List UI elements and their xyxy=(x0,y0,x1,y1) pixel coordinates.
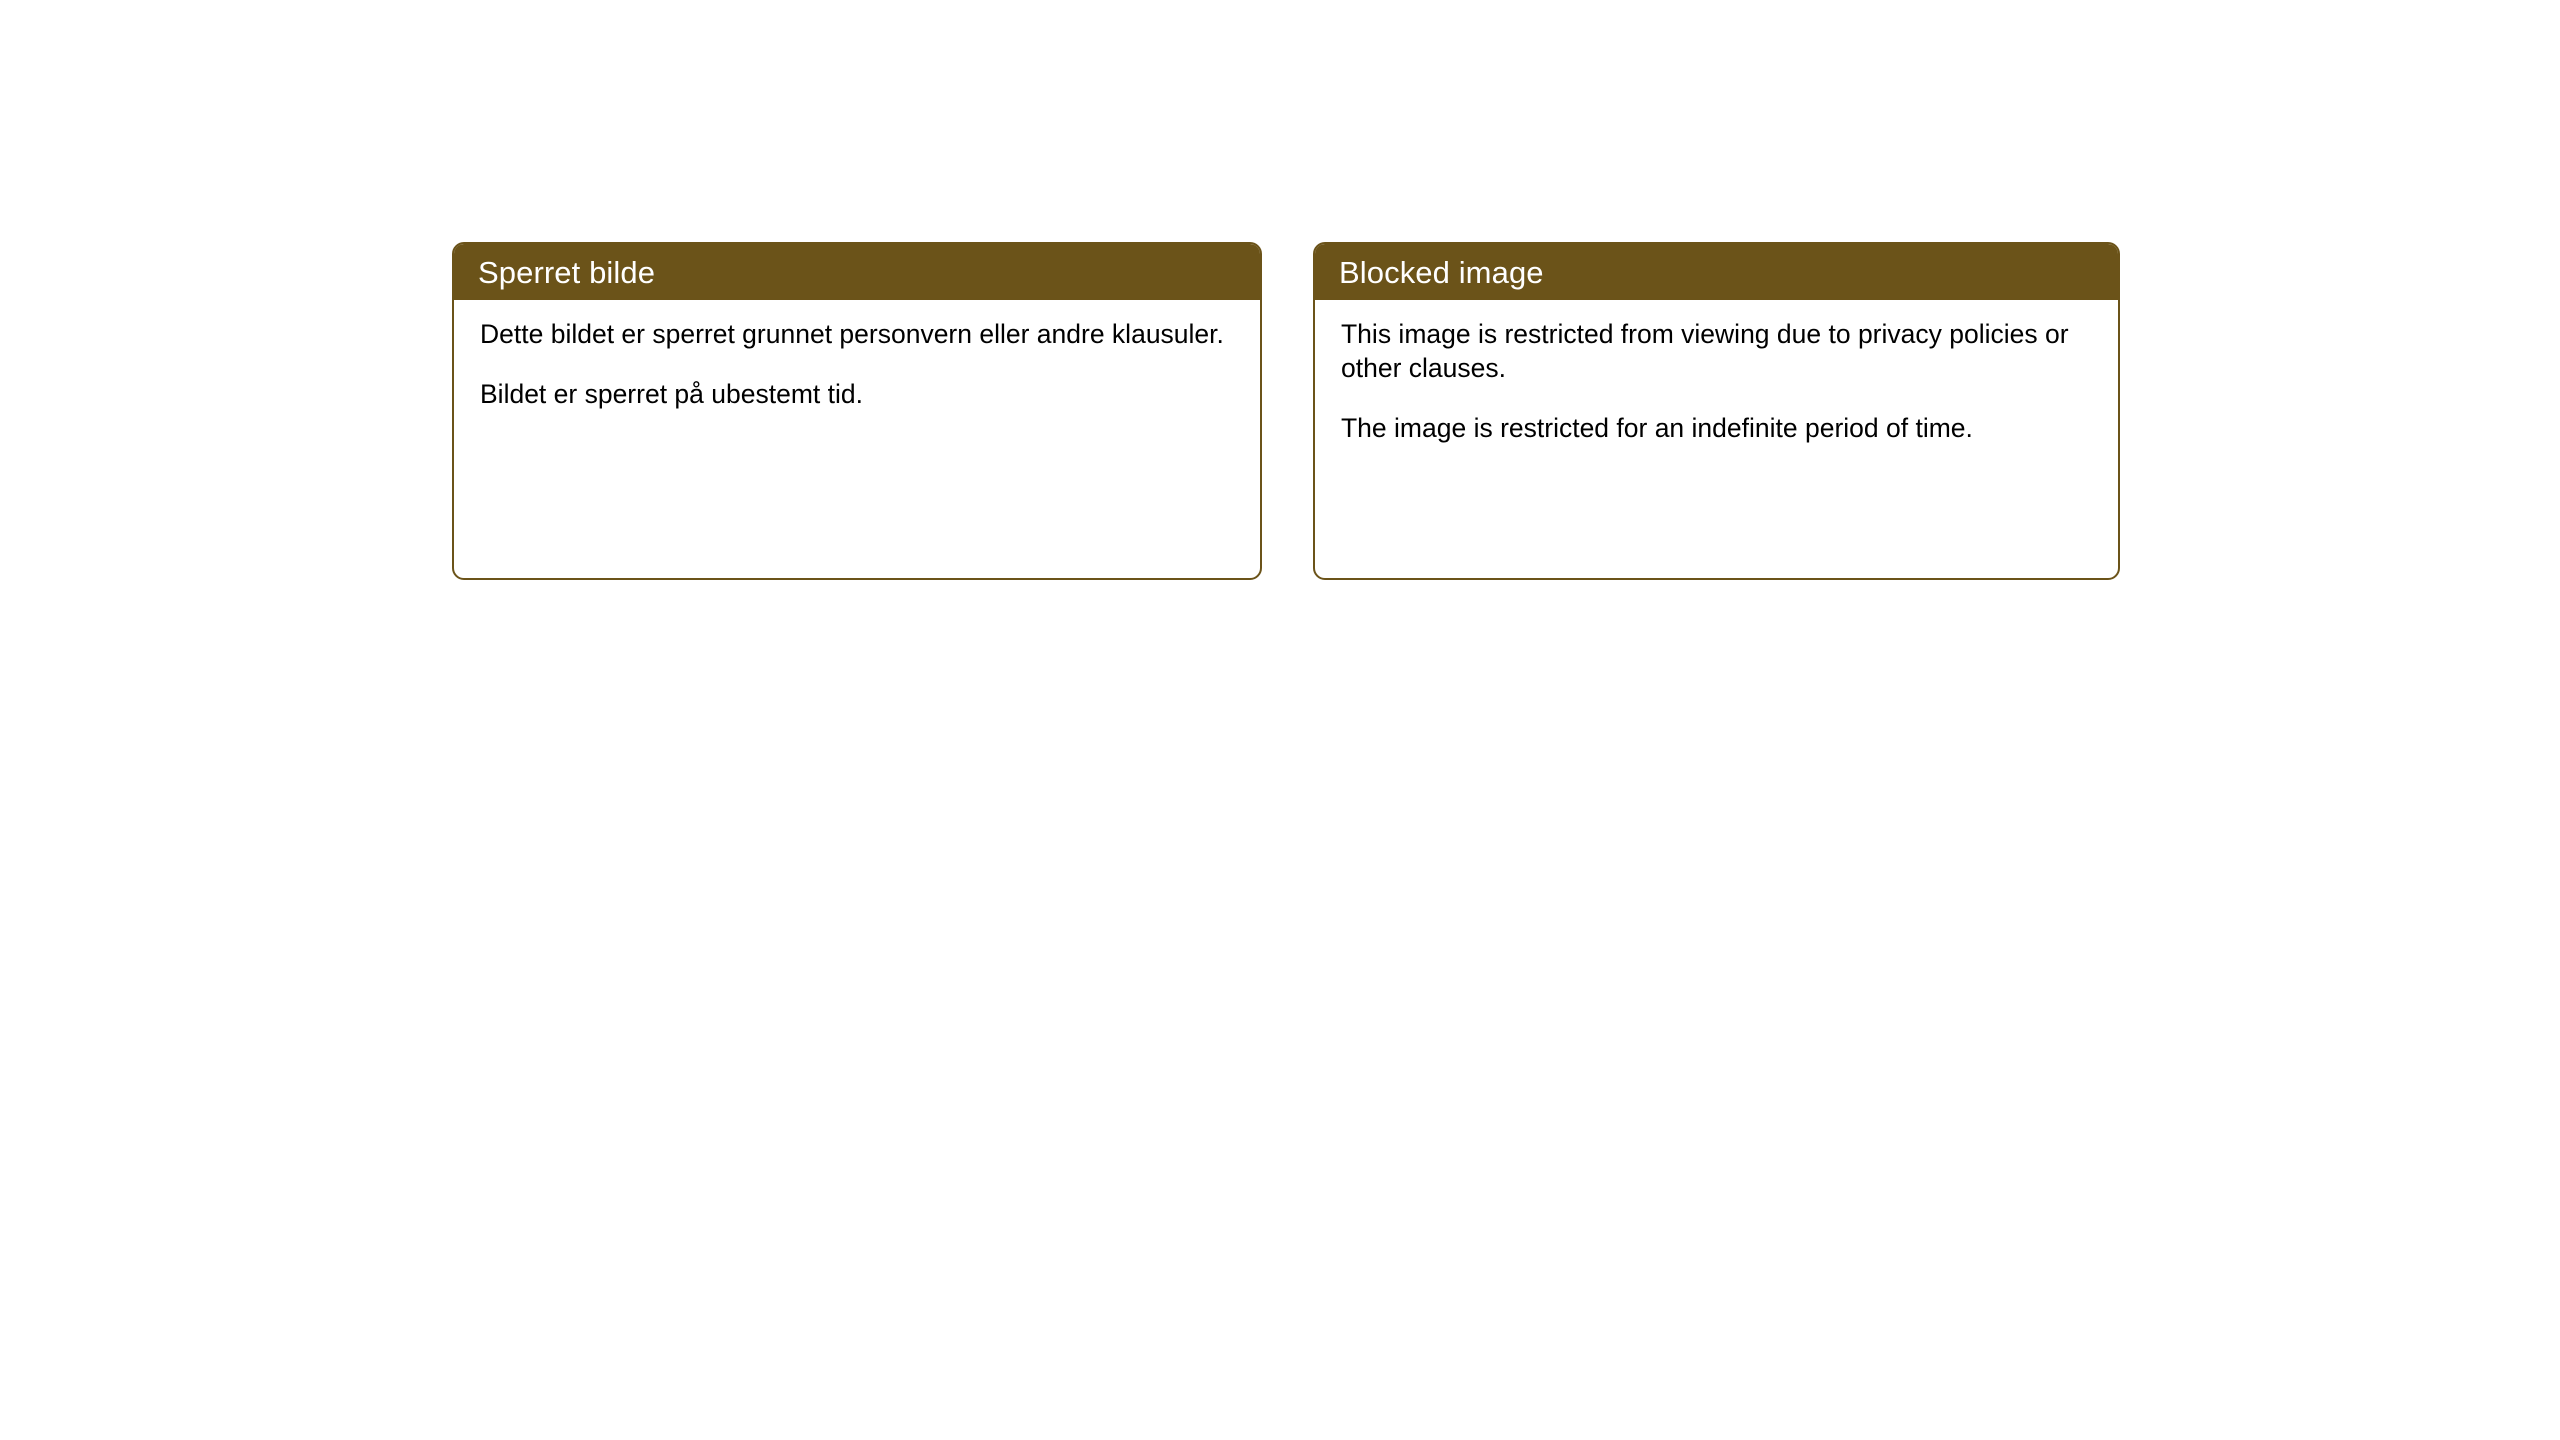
card-title-english: Blocked image xyxy=(1339,257,1544,288)
card-paragraph-primary-norwegian: Dette bildet er sperret grunnet personve… xyxy=(480,318,1234,352)
blocked-image-notice-card-norwegian: Sperret bilde Dette bildet er sperret gr… xyxy=(452,242,1262,580)
card-body-norwegian: Dette bildet er sperret grunnet personve… xyxy=(454,300,1260,412)
card-body-english: This image is restricted from viewing du… xyxy=(1315,300,2118,446)
card-header-norwegian: Sperret bilde xyxy=(454,244,1260,300)
card-paragraph-secondary-norwegian: Bildet er sperret på ubestemt tid. xyxy=(480,378,1234,412)
card-paragraph-primary-english: This image is restricted from viewing du… xyxy=(1341,318,2092,386)
card-title-norwegian: Sperret bilde xyxy=(478,257,655,288)
card-paragraph-secondary-english: The image is restricted for an indefinit… xyxy=(1341,412,2092,446)
blocked-image-notice-card-english: Blocked image This image is restricted f… xyxy=(1313,242,2120,580)
page-root: Sperret bilde Dette bildet er sperret gr… xyxy=(0,0,2560,1440)
card-header-english: Blocked image xyxy=(1315,244,2118,300)
